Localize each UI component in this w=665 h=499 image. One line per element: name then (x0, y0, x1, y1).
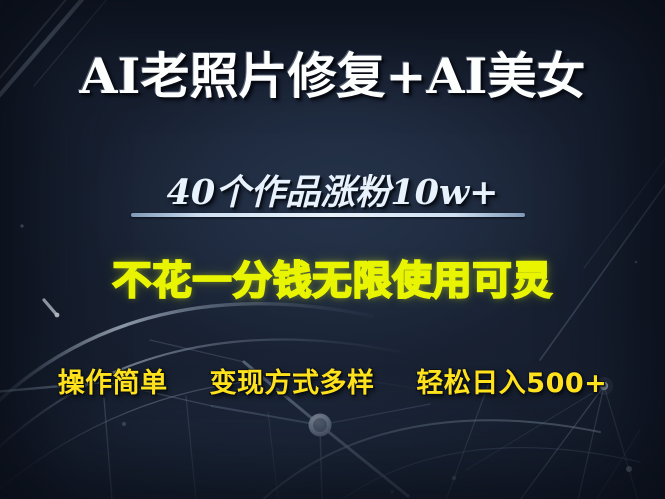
tagline-outline-text: 不花一分钱无限使用可灵 (0, 258, 665, 306)
promo-poster: AI老照片修复+AI美女 40个作品涨粉10w+ 不花一分钱无限使用可灵 操作简… (0, 0, 665, 499)
poster-text-content: AI老照片修复+AI美女 40个作品涨粉10w+ 不花一分钱无限使用可灵 操作简… (0, 0, 665, 499)
footer-benefit-1: 操作简单 (58, 368, 168, 399)
footer-benefit-3: 轻松日入500+ (416, 368, 607, 399)
footer-benefits: 操作简单 变现方式多样 轻松日入500+ (0, 367, 665, 401)
subtitle-stat: 40个作品涨粉10w+ (0, 172, 665, 214)
footer-benefit-2: 变现方式多样 (210, 368, 375, 399)
subtitle-underline (131, 213, 525, 217)
page-title: AI老照片修复+AI美女 (0, 47, 665, 105)
